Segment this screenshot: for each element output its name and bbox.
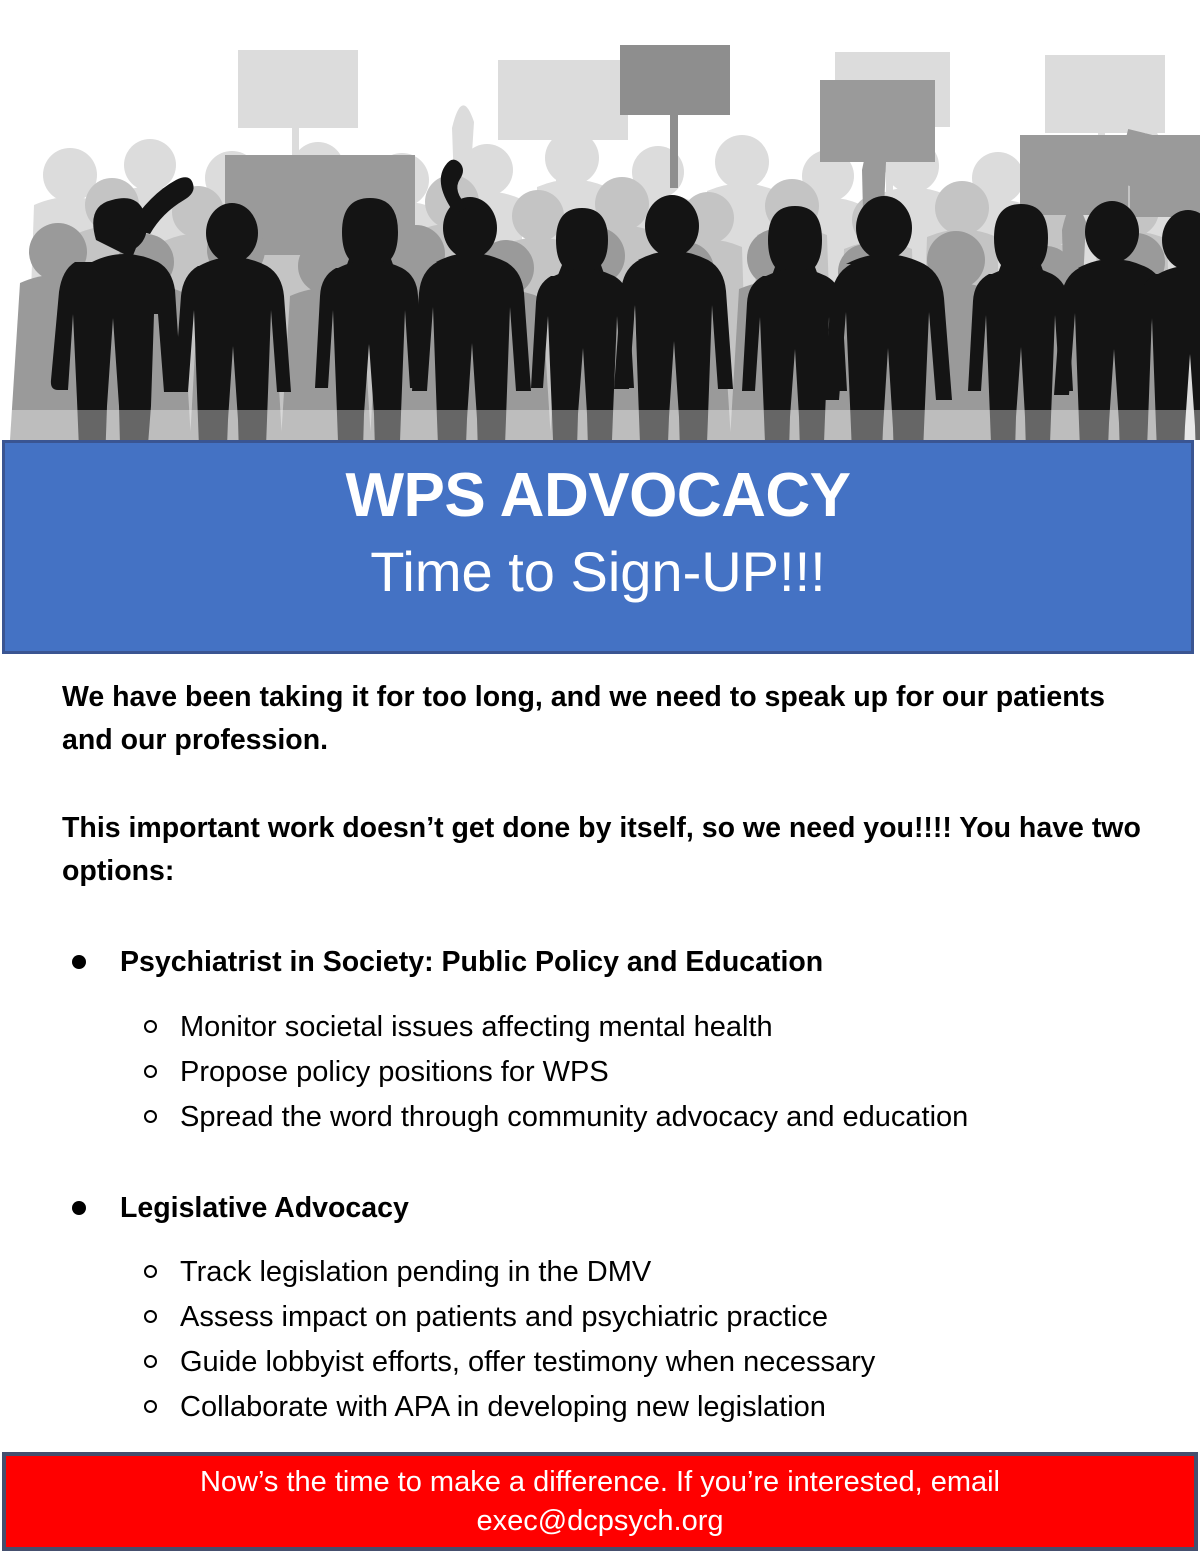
title-banner: WPS ADVOCACY Time to Sign-UP!!! (2, 440, 1194, 654)
bullet-circle-icon (144, 1355, 157, 1368)
list-item-label: Spread the word through community advoca… (180, 1101, 968, 1133)
crowd-silhouette-image (0, 0, 1200, 440)
cta-email[interactable]: exec@dcpsych.org (476, 1502, 723, 1540)
bullet-disc-icon (72, 1201, 86, 1215)
list-item: Assess impact on patients and psychiatri… (62, 1296, 1154, 1339)
list-item: Track legislation pending in the DMV (62, 1251, 1154, 1294)
call-to-action-banner: Now’s the time to make a difference. If … (2, 1452, 1198, 1551)
page-title: WPS ADVOCACY (346, 463, 851, 529)
option-heading-1: Psychiatrist in Society: Public Policy a… (62, 941, 1154, 984)
list-item: Spread the word through community advoca… (62, 1096, 1154, 1139)
option-1-sub-list: Monitor societal issues affecting mental… (62, 1006, 1154, 1139)
bullet-circle-icon (144, 1110, 157, 1123)
list-item-label: Guide lobbyist efforts, offer testimony … (180, 1346, 875, 1378)
page-subtitle: Time to Sign-UP!!! (370, 541, 825, 603)
list-item: Collaborate with APA in developing new l… (62, 1386, 1154, 1429)
bullet-circle-icon (144, 1065, 157, 1078)
cta-line-1: Now’s the time to make a difference. If … (200, 1463, 1000, 1501)
list-item: Propose policy positions for WPS (62, 1051, 1154, 1094)
bullet-circle-icon (144, 1020, 157, 1033)
bullet-circle-icon (144, 1310, 157, 1323)
option-heading-2: Legislative Advocacy (62, 1187, 1154, 1230)
option-2-sub-list: Track legislation pending in the DMV Ass… (62, 1251, 1154, 1429)
list-item: Monitor societal issues affecting mental… (62, 1006, 1154, 1049)
option-block-2: Legislative Advocacy Track legislation p… (62, 1187, 1154, 1429)
intro-paragraph-1: We have been taking it for too long, and… (62, 676, 1154, 763)
bullet-disc-icon (72, 955, 86, 969)
flyer-body: We have been taking it for too long, and… (0, 662, 1200, 1452)
bullet-circle-icon (144, 1400, 157, 1413)
option-block-1: Psychiatrist in Society: Public Policy a… (62, 941, 1154, 1138)
option-heading-2-label: Legislative Advocacy (120, 1192, 409, 1224)
list-item-label: Propose policy positions for WPS (180, 1056, 609, 1088)
list-item-label: Track legislation pending in the DMV (180, 1256, 651, 1288)
crowd-silhouette-svg (0, 0, 1200, 440)
list-item: Guide lobbyist efforts, offer testimony … (62, 1341, 1154, 1384)
list-item-label: Monitor societal issues affecting mental… (180, 1011, 773, 1043)
list-item-label: Collaborate with APA in developing new l… (180, 1391, 826, 1423)
option-heading-1-label: Psychiatrist in Society: Public Policy a… (120, 946, 823, 978)
intro-paragraph-2: This important work doesn’t get done by … (62, 807, 1154, 894)
options-list: Psychiatrist in Society: Public Policy a… (62, 941, 1154, 1429)
bullet-circle-icon (144, 1265, 157, 1278)
list-item-label: Assess impact on patients and psychiatri… (180, 1301, 828, 1333)
